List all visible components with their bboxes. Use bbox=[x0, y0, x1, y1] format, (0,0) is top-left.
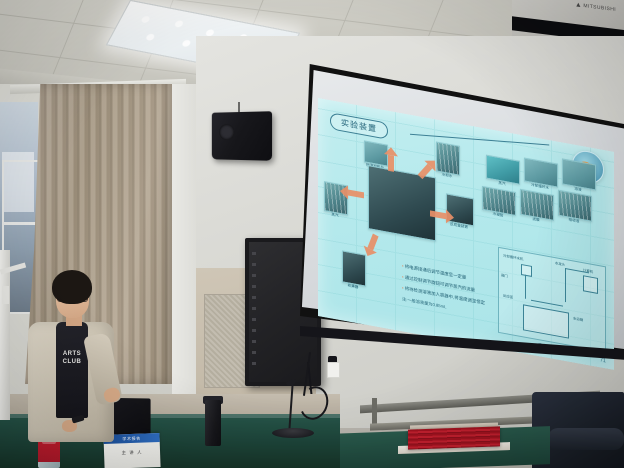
slide-grid-caption: 滤膜 bbox=[532, 217, 539, 223]
slide-photo-caption: 蒸汽 bbox=[331, 212, 338, 218]
diagram-label: 水龙头 bbox=[555, 260, 565, 267]
slide-grid-caption: 蒸汽 bbox=[498, 181, 505, 187]
wall-outlet bbox=[327, 362, 340, 378]
diagram-label: 冷却循环水机 bbox=[503, 253, 523, 262]
rail-support-leg bbox=[372, 398, 377, 424]
pole-knob bbox=[2, 286, 9, 304]
presenter-tshirt: ARTS CLUB bbox=[56, 322, 88, 418]
projection-screen: 实验装置 ZJNU 恒温加热台 冷却水 蒸汽 反应釜装置 收集器 bbox=[300, 58, 624, 358]
display-bezel-dots bbox=[252, 252, 256, 370]
diagram-label: 水浴锅 bbox=[573, 315, 583, 322]
diagram-label: 反应釜 bbox=[503, 293, 513, 300]
diagram-part bbox=[521, 264, 532, 277]
slide-photo bbox=[436, 141, 460, 175]
tshirt-graphic: ARTS CLUB bbox=[56, 350, 88, 366]
diagram-label: 阀门 bbox=[501, 272, 508, 278]
microphone-base[interactable] bbox=[272, 428, 314, 438]
chair-armrest bbox=[548, 428, 624, 450]
presenter: ARTS CLUB bbox=[16, 270, 146, 468]
tshirt-text-line2: CLUB bbox=[63, 359, 82, 365]
vacuum-flask bbox=[205, 400, 221, 446]
slide-photo bbox=[342, 250, 366, 286]
equipment-pole bbox=[0, 250, 10, 420]
diagram-computer bbox=[583, 275, 598, 294]
presentation-room-photo: ▲MITSUBISHI 实验装置 ZJNU bbox=[0, 0, 624, 468]
wall-speaker bbox=[212, 111, 272, 161]
mitsubishi-logo-icon: ▲ bbox=[575, 1, 583, 10]
slide-main-apparatus-photo bbox=[368, 165, 436, 241]
presenter-hair bbox=[52, 270, 92, 304]
flow-arrow-up-icon bbox=[388, 155, 394, 172]
diagram-hotplate bbox=[523, 304, 569, 338]
tshirt-text-line1: ARTS bbox=[63, 351, 81, 357]
ac-brand-label: ▲MITSUBISHI bbox=[576, 2, 616, 13]
red-folder-stack bbox=[408, 426, 500, 449]
